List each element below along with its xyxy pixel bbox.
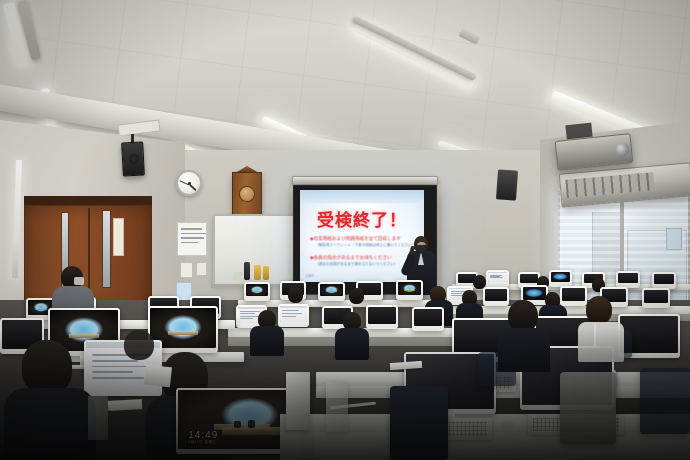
- monitor: [652, 272, 676, 289]
- wall-notice: [177, 222, 207, 256]
- monitor: [412, 307, 444, 331]
- student-head: [288, 287, 303, 303]
- light-switch[interactable]: [180, 262, 193, 278]
- monitor: [366, 305, 398, 329]
- student-head: [586, 296, 612, 324]
- wall-plate: [666, 228, 682, 250]
- floor-shading: [0, 330, 690, 460]
- wall-speaker-icon: [121, 141, 145, 176]
- light-switch[interactable]: [196, 262, 207, 276]
- monitor: [483, 287, 509, 306]
- desk-item: [234, 272, 242, 280]
- slide-bullet-2: ◆係員の指示があるまでお待ちください: [310, 255, 392, 261]
- door-notice: [113, 218, 124, 256]
- slide-bullet-1: ◆答案用紙および問題用紙を全て回収します: [310, 236, 401, 242]
- face-mask-icon: [74, 277, 84, 285]
- pendulum-clock-face: [239, 186, 255, 202]
- wall-speaker-icon: [496, 169, 518, 200]
- clock-center: [188, 182, 191, 185]
- slide-header-band: [300, 190, 424, 203]
- monitor: [560, 286, 587, 306]
- desk-bottle: [244, 262, 250, 280]
- desk-bottle: [263, 266, 269, 280]
- door-window: [102, 210, 111, 288]
- wall-clock: [176, 170, 202, 196]
- monitor: [616, 271, 640, 288]
- slide-logo: CBT: [306, 273, 314, 278]
- student-head: [349, 288, 364, 304]
- monitor: [278, 304, 309, 327]
- monitor: [244, 282, 270, 301]
- monitor: [318, 282, 345, 301]
- desk-bottle: [254, 265, 261, 280]
- slide-subtext-1: （解答用マークシート・下書き用紙は机上に置いてください）: [315, 243, 415, 248]
- clock-hour-hand: [189, 184, 196, 191]
- monitor: [549, 270, 572, 287]
- classroom-photo: 受検終了！ ◆答案用紙および問題用紙を全て回収します （解答用マークシート・下書…: [0, 0, 690, 460]
- projection-screen-case: [292, 176, 438, 185]
- monitor: [642, 288, 670, 308]
- monitor: [396, 280, 423, 300]
- monitor: [486, 270, 509, 287]
- slide-subtext-2: （退出の合図があるまで席を立たないでください）: [315, 262, 398, 267]
- slide-title: 受検終了！: [300, 206, 424, 231]
